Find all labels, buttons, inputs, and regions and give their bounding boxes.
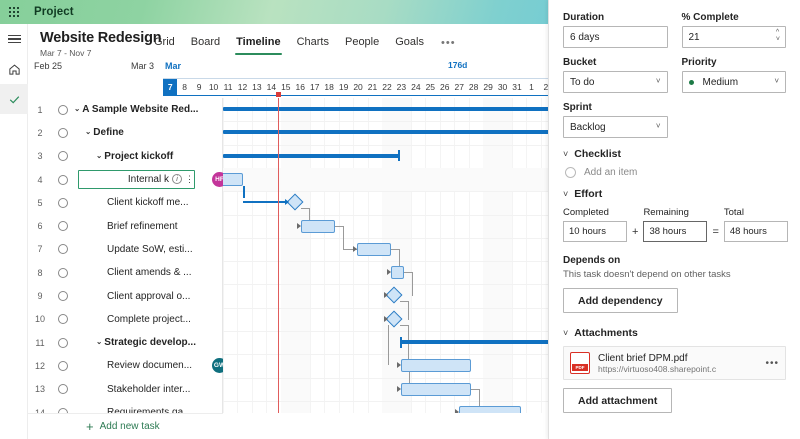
home-icon[interactable]	[0, 54, 28, 84]
row-number: 5	[28, 198, 52, 208]
ruler-day: 16	[293, 79, 307, 96]
tab-grid[interactable]: Grid	[146, 32, 183, 54]
bucket-label: Bucket	[563, 57, 668, 68]
effort-remaining-label: Remaining	[643, 207, 707, 218]
gantt-link	[388, 325, 389, 366]
gantt-link	[343, 226, 344, 249]
bucket-value: To do	[570, 77, 594, 88]
effort-total-value: 48 hours	[730, 226, 767, 237]
hamburger-icon[interactable]	[0, 24, 28, 54]
priority-label: Priority	[682, 57, 787, 68]
task-complete-checkbox[interactable]	[52, 198, 74, 208]
ruler-day: 26	[438, 79, 452, 96]
ruler-day: 8	[177, 79, 191, 96]
bucket-field: Bucket To do ˅	[563, 57, 668, 93]
task-name[interactable]: Client approval o...	[74, 291, 222, 302]
task-complete-checkbox[interactable]	[52, 175, 74, 185]
task-complete-checkbox[interactable]	[52, 314, 74, 324]
task-complete-checkbox[interactable]	[52, 338, 74, 348]
ruler-day: 13	[250, 79, 264, 96]
task-complete-checkbox[interactable]	[52, 384, 74, 394]
percent-stepper[interactable]: ^˅	[776, 29, 780, 43]
gantt-link	[412, 272, 413, 295]
effort-completed-value: 10 hours	[569, 226, 606, 237]
gantt-task-bar[interactable]	[401, 359, 471, 372]
effort-total-field: Total 48 hours	[724, 207, 788, 242]
gantt-link	[412, 295, 413, 296]
priority-select[interactable]: Medium ˅	[682, 71, 787, 93]
ruler-day: 30	[495, 79, 509, 96]
gantt-link-arrow	[397, 386, 401, 392]
gantt-link-arrow	[297, 223, 301, 229]
table-row[interactable]: 4Internal kInternal ki⋮HF	[28, 168, 222, 191]
my-tasks-icon[interactable]	[0, 84, 28, 114]
row-number: 12	[28, 361, 52, 371]
gantt-link-arrow	[384, 316, 388, 322]
today-marker	[276, 92, 281, 97]
gantt-link-arrow	[384, 292, 388, 298]
row-number: 9	[28, 291, 52, 301]
sprint-row: Sprint Backlog ˅	[563, 102, 786, 138]
sprint-value: Backlog	[570, 122, 606, 133]
row-number: 13	[28, 384, 52, 394]
task-complete-checkbox[interactable]	[52, 244, 74, 254]
row-number: 8	[28, 268, 52, 278]
sprint-label: Sprint	[563, 102, 668, 113]
checkbox-circle-icon	[565, 167, 576, 178]
ruler-day: 29	[481, 79, 495, 96]
row-number: 1	[28, 105, 52, 115]
effort-section-header[interactable]: ˅ Effort	[563, 188, 786, 200]
sprint-field: Sprint Backlog ˅	[563, 102, 668, 138]
duration-field: Duration 6 days	[563, 12, 668, 48]
depends-on-label: Depends on	[563, 255, 786, 266]
effort-completed-field: Completed 10 hours	[563, 207, 627, 242]
tab-people[interactable]: People	[337, 32, 387, 54]
ruler-day: 20	[351, 79, 365, 96]
row-number: 10	[28, 314, 52, 324]
tab-goals[interactable]: Goals	[387, 32, 432, 54]
gantt-link	[243, 186, 245, 198]
left-rail	[0, 24, 28, 439]
table-row[interactable]: 6Brief refinement	[28, 214, 222, 237]
task-name[interactable]: Client amends & ...	[74, 267, 222, 278]
gantt-link-arrow	[285, 199, 289, 205]
tab-board[interactable]: Board	[183, 32, 228, 54]
duration-label: Duration	[563, 12, 668, 23]
gantt-link	[408, 301, 409, 318]
task-name[interactable]: Stakeholder inter...	[74, 384, 222, 395]
gantt-link	[391, 249, 399, 250]
tab-timeline[interactable]: Timeline	[228, 32, 288, 54]
add-checklist-item[interactable]: Add an item	[563, 167, 786, 178]
task-complete-checkbox[interactable]	[52, 221, 74, 231]
percent-complete-input[interactable]: 21 ^˅	[682, 26, 787, 48]
effort-remaining-field: Remaining 38 hours	[643, 207, 707, 242]
table-row[interactable]: 9Client approval o...	[28, 284, 222, 307]
ruler-month-1: Mar 3	[131, 61, 154, 71]
ruler-day: 25	[423, 79, 437, 96]
ruler-day: 24	[409, 79, 423, 96]
table-row[interactable]: 13Stakeholder inter...	[28, 378, 222, 401]
ruler-day: 18	[322, 79, 336, 96]
task-complete-checkbox[interactable]	[52, 291, 74, 301]
table-row[interactable]: 8Client amends & ...	[28, 261, 222, 284]
bucket-select[interactable]: To do ˅	[563, 71, 668, 93]
effort-completed-label: Completed	[563, 207, 627, 218]
effort-total-label: Total	[724, 207, 788, 218]
row-number: 4	[28, 175, 52, 185]
effort-remaining-input[interactable]: 38 hours	[643, 221, 707, 242]
table-row[interactable]: 7Update SoW, esti...	[28, 238, 222, 261]
ruler-day: 10	[206, 79, 220, 96]
row-number: 6	[28, 221, 52, 231]
ruler-day: 27	[452, 79, 466, 96]
effort-title: Effort	[574, 188, 602, 200]
gantt-link	[408, 319, 409, 320]
page-title: Website Redesign	[40, 30, 161, 46]
view-tabs: Grid Board Timeline Charts People Goals …	[146, 32, 465, 54]
task-name[interactable]: Review documen...	[74, 360, 222, 371]
task-complete-checkbox[interactable]	[52, 268, 74, 278]
table-row[interactable]: 2⌄Define	[28, 121, 222, 144]
task-name-editor[interactable]: Internal ki⋮	[78, 170, 195, 189]
task-name[interactable]: ⌄Strategic develop...	[74, 337, 222, 348]
attachment-file-name: Client brief DPM.pdf	[598, 353, 716, 364]
ruler-day: 21	[365, 79, 379, 96]
ruler-day: 28	[466, 79, 480, 96]
gantt-link	[400, 325, 408, 326]
ruler-day: 12	[235, 79, 249, 96]
pdf-label: PDF	[572, 364, 588, 371]
task-name[interactable]: Client kickoff me...	[74, 197, 222, 208]
effort-plus-sign: +	[632, 226, 638, 242]
gantt-summary-cap	[400, 337, 402, 348]
pdf-file-icon: PDF	[570, 352, 590, 374]
row-number: 3	[28, 151, 52, 161]
attachment-file-url: https://virtuoso408.sharepoint.c	[598, 364, 716, 374]
ruler-day: 9	[192, 79, 206, 96]
checklist-title: Checklist	[574, 148, 621, 160]
ruler-day: 17	[308, 79, 322, 96]
project-date-range: Mar 7 - Nov 7	[40, 48, 92, 58]
table-row[interactable]: 12Review documen...GW	[28, 354, 222, 377]
chevron-down-icon: ˅	[656, 77, 661, 86]
task-list: 1⌄A Sample Website Red...2⌄Define3⌄Proje…	[28, 98, 223, 439]
ruler-day: 23	[394, 79, 408, 96]
task-complete-checkbox[interactable]	[52, 105, 74, 115]
attachments-title: Attachments	[574, 327, 638, 339]
gantt-task-bar[interactable]	[401, 383, 471, 396]
gantt-today-line	[278, 98, 279, 413]
ruler-day: 31	[510, 79, 524, 96]
add-item-label: Add an item	[584, 167, 637, 178]
duration-input[interactable]: 6 days	[563, 26, 668, 48]
gantt-task-bar[interactable]	[223, 173, 243, 186]
gantt-link-arrow	[455, 409, 459, 413]
row-number: 11	[28, 338, 52, 348]
ruler-day: 22	[380, 79, 394, 96]
table-row[interactable]: 5Client kickoff me...	[28, 191, 222, 214]
duration-value: 6 days	[570, 32, 599, 43]
task-complete-checkbox[interactable]	[52, 128, 74, 138]
task-name-value: Internal k	[128, 174, 169, 185]
gantt-summary-cap	[398, 150, 400, 161]
checklist-section-header[interactable]: ˅ Checklist	[563, 148, 786, 160]
gantt-link	[301, 208, 309, 209]
attachment-more-icon[interactable]: •••	[765, 358, 779, 369]
add-new-task-button[interactable]: + Add new task	[28, 413, 223, 439]
effort-remaining-value: 38 hours	[649, 226, 686, 237]
ruler-duration-label: 176d	[448, 60, 467, 70]
ruler-day: 7	[163, 79, 177, 96]
attachment-item[interactable]: PDF Client brief DPM.pdf https://virtuos…	[563, 346, 786, 380]
task-detail-panel: Duration 6 days % Complete 21 ^˅ Bucket …	[548, 0, 800, 439]
chevron-down-icon: ˅	[563, 189, 568, 199]
effort-equals-sign: =	[712, 226, 718, 242]
gantt-link	[335, 226, 343, 227]
priority-field: Priority Medium ˅	[682, 57, 787, 93]
table-row[interactable]: 10Complete project...	[28, 308, 222, 331]
effort-fields: Completed 10 hours + Remaining 38 hours …	[563, 207, 786, 242]
sprint-select[interactable]: Backlog ˅	[563, 116, 668, 138]
app-title: Project	[34, 6, 74, 18]
task-complete-checkbox[interactable]	[52, 361, 74, 371]
duration-percent-row: Duration 6 days % Complete 21 ^˅	[563, 12, 786, 48]
chevron-down-icon: ˅	[563, 149, 568, 159]
ruler-day: 1	[524, 79, 538, 96]
gantt-link	[404, 272, 412, 273]
task-name[interactable]: ⌄Define	[74, 127, 222, 138]
chevron-down-icon[interactable]: ⌄	[74, 104, 80, 113]
percent-complete-field: % Complete 21 ^˅	[682, 12, 787, 48]
add-new-task-label: Add new task	[100, 421, 160, 432]
more-vertical-icon[interactable]: ⋮	[185, 176, 190, 182]
task-name[interactable]: Brief refinement	[74, 221, 222, 232]
add-attachment-button[interactable]: Add attachment	[563, 388, 672, 413]
chevron-down-icon[interactable]: ⌄	[85, 127, 91, 136]
plus-icon: +	[86, 422, 94, 432]
task-complete-checkbox[interactable]	[52, 151, 74, 161]
chevron-down-icon: ˅	[563, 328, 568, 338]
gantt-link	[471, 389, 479, 390]
gantt-task-bar[interactable]	[391, 266, 404, 279]
gantt-link-arrow	[397, 362, 401, 368]
row-number: 2	[28, 128, 52, 138]
ruler-day: 19	[336, 79, 350, 96]
depends-on-section: Depends on This task doesn't depend on o…	[563, 255, 786, 313]
gantt-task-bar[interactable]	[357, 243, 391, 256]
percent-complete-label: % Complete	[682, 12, 787, 23]
ruler-month-0: Feb 25	[34, 61, 62, 71]
attachments-section-header[interactable]: ˅ Attachments	[563, 327, 786, 339]
chevron-down-icon: ˅	[656, 122, 661, 131]
ruler-month-2: Mar	[165, 61, 181, 71]
table-row[interactable]: 3⌄Project kickoff	[28, 145, 222, 168]
effort-total-input: 48 hours	[724, 221, 788, 242]
waffle-icon[interactable]	[0, 0, 28, 24]
table-row[interactable]: 1⌄A Sample Website Red...	[28, 98, 222, 121]
table-row[interactable]: 11⌄Strategic develop...	[28, 331, 222, 354]
chevron-down-icon[interactable]: ⌄	[96, 151, 102, 160]
task-name[interactable]: ⌄Project kickoff	[74, 151, 222, 162]
gantt-task-bar[interactable]	[459, 406, 521, 413]
task-name[interactable]: ⌄A Sample Website Red...	[74, 104, 222, 115]
chevron-down-icon: ˅	[774, 77, 779, 86]
chevron-down-icon[interactable]: ⌄	[96, 337, 102, 346]
gantt-link-arrow	[353, 246, 357, 252]
add-dependency-button[interactable]: Add dependency	[563, 288, 678, 313]
gantt-task-bar[interactable]	[301, 220, 335, 233]
gantt-link	[243, 201, 287, 203]
row-number: 7	[28, 244, 52, 254]
bucket-priority-row: Bucket To do ˅ Priority Medium ˅	[563, 57, 786, 93]
info-icon[interactable]: i	[172, 174, 182, 184]
more-tabs-icon[interactable]: •••	[432, 37, 465, 49]
priority-dot-icon	[689, 80, 694, 85]
tab-charts[interactable]: Charts	[289, 32, 337, 54]
gantt-link	[400, 301, 408, 302]
gantt-link-arrow	[387, 269, 391, 275]
project-timeline-app: Project Trial ? HF	[0, 0, 800, 439]
effort-completed-input[interactable]: 10 hours	[563, 221, 627, 242]
task-name[interactable]: Complete project...	[74, 314, 222, 325]
task-name[interactable]: Update SoW, esti...	[74, 244, 222, 255]
gantt-summary-bar[interactable]	[223, 154, 400, 158]
depends-on-empty-text: This task doesn't depend on other tasks	[563, 269, 786, 280]
ruler-day: 11	[221, 79, 235, 96]
priority-value: Medium	[703, 77, 739, 88]
percent-complete-value: 21	[689, 32, 700, 43]
